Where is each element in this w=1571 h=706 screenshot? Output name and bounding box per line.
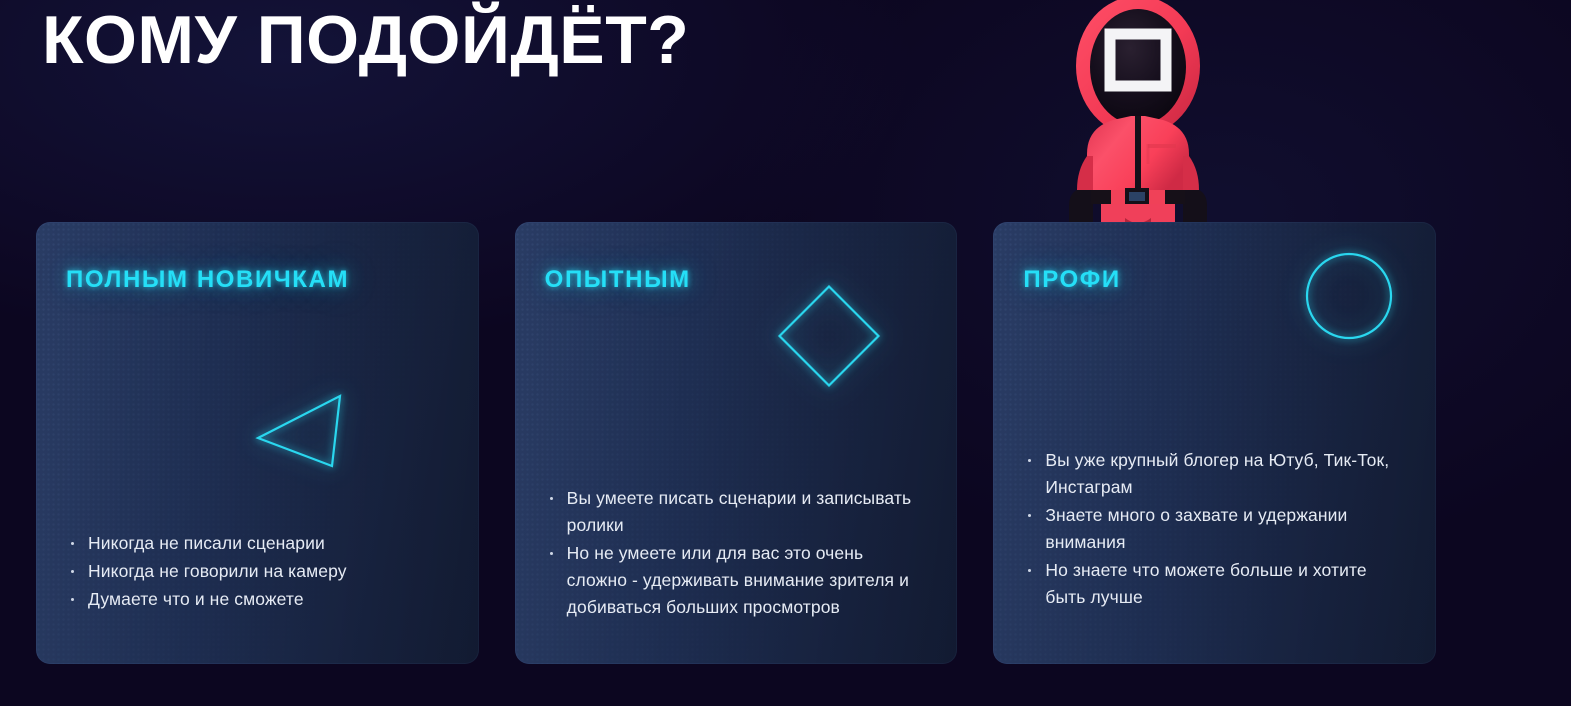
card-experienced[interactable]: ОПЫТНЫМ Вы умеете писать сценарии и запи… [515, 222, 958, 664]
guard-mask [1090, 9, 1186, 125]
guard-glove-left [1069, 190, 1093, 226]
guard-pocket [1148, 144, 1176, 148]
list-item: Вы уже крупный блогер на Ютуб, Тик-Ток, … [1023, 447, 1406, 501]
guard-zipper [1135, 116, 1141, 194]
card-heading-pro: ПРОФИ [1023, 266, 1406, 294]
list-item: Знаете много о захвате и удержании внима… [1023, 502, 1406, 556]
page-title: КОМУ ПОДОЙДЁТ? [42, 0, 689, 82]
card-beginners[interactable]: ПОЛНЫМ НОВИЧКАМ Никогда не писали сценар… [36, 222, 479, 664]
audience-cards: ПОЛНЫМ НОВИЧКАМ Никогда не писали сценар… [36, 222, 1436, 664]
page-root: КОМУ ПОДОЙДЁТ? [0, 0, 1571, 706]
card-pro[interactable]: ПРОФИ Вы уже крупный блогер на Ютуб, Тик… [993, 222, 1436, 664]
bullet-list-experienced: Вы умеете писать сценарии и записывать р… [545, 485, 928, 622]
bullet-list-beginners: Никогда не писали сценарии Никогда не го… [66, 530, 449, 614]
card-heading-beginners: ПОЛНЫМ НОВИЧКАМ [66, 266, 449, 294]
list-item: Никогда не говорили на камеру [66, 558, 449, 585]
list-item: Думаете что и не сможете [66, 586, 449, 613]
list-item: Но знаете что можете больше и хотите быт… [1023, 557, 1406, 611]
squid-game-guard-illustration [1043, 0, 1233, 226]
list-item: Но не умеете или для вас это очень сложн… [545, 540, 928, 621]
bullet-list-pro: Вы уже крупный блогер на Ютуб, Тик-Ток, … [1023, 447, 1406, 612]
list-item: Вы умеете писать сценарии и записывать р… [545, 485, 928, 539]
guard-glove-right [1183, 190, 1207, 226]
card-heading-experienced: ОПЫТНЫМ [545, 266, 928, 294]
list-item: Никогда не писали сценарии [66, 530, 449, 557]
